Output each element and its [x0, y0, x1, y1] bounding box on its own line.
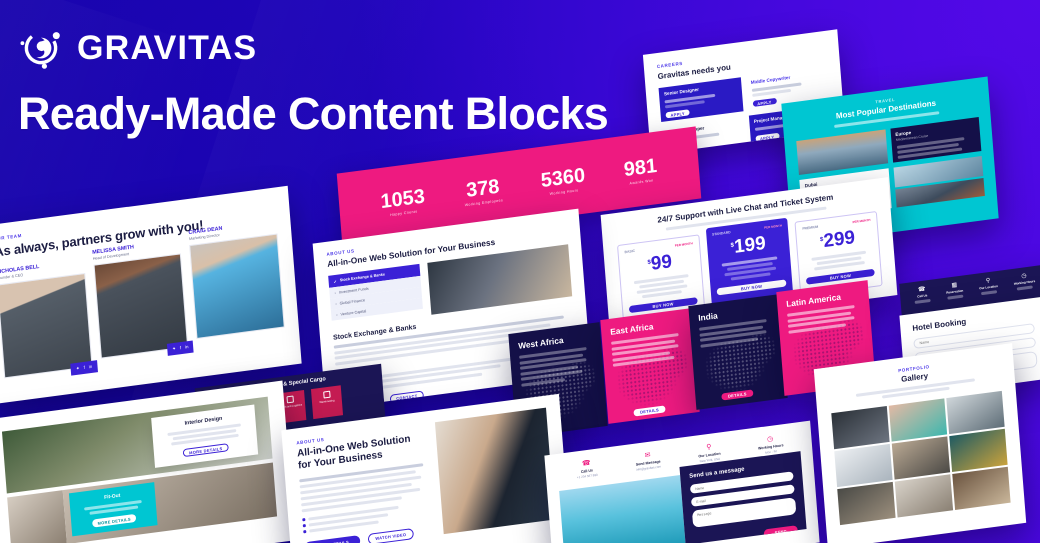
plan-badge: PER MONTH — [675, 241, 693, 247]
page-title: Ready-Made Content Blocks — [18, 88, 608, 140]
about-nav-list[interactable]: ✓ Stock Exchange & Banks › Investment Fu… — [328, 264, 423, 328]
team-panel[interactable]: OUR TEAM As always, partners grow with y… — [0, 186, 302, 404]
gallery-panel[interactable]: PORTFOLIO Gallery — [814, 343, 1026, 543]
twitter-icon[interactable]: ✦ — [172, 346, 176, 352]
contact-form[interactable]: Send us a message SEND — [679, 451, 806, 543]
region-card-east-africa[interactable]: East Africa DETAILS — [600, 308, 699, 424]
team-member-card[interactable]: CRAIG DEAN Marketing Director — [188, 219, 286, 353]
job-apply-button[interactable]: APPLY — [752, 98, 776, 107]
member-social-bar[interactable]: ✦ f in — [167, 340, 194, 355]
stat-item: 981 Awards Won — [623, 154, 658, 185]
destination-button[interactable]: EXPLORE — [898, 160, 918, 162]
interior-image — [7, 490, 67, 543]
topbar-item[interactable]: ▦ Reservation — [945, 281, 963, 300]
gallery-tile[interactable] — [895, 474, 953, 517]
about-hero-image — [427, 244, 572, 314]
gallery-tile[interactable] — [946, 391, 1004, 434]
plan-name: PREMIUM — [802, 225, 818, 231]
stat-item: 1053 Happy Clients — [380, 185, 426, 218]
destination-card[interactable] — [893, 156, 985, 208]
gallery-tile[interactable] — [889, 398, 947, 441]
promo-banner: GRAVITAS Ready-Made Content Blocks CAREE… — [0, 0, 1040, 543]
plan-badge: PER MONTH — [852, 218, 870, 224]
facebook-icon[interactable]: f — [180, 345, 182, 351]
fitout-card-button[interactable]: MORE DETAILS — [92, 514, 136, 528]
plan-badge: PER MONTH — [764, 223, 782, 229]
stat-item: 378 Working Employees — [463, 175, 503, 207]
twitter-icon[interactable]: ✦ — [76, 366, 80, 372]
facebook-icon[interactable]: f — [83, 365, 85, 371]
plan-name: STANDARD — [712, 230, 731, 236]
box-icon — [323, 391, 330, 399]
about-hero-image — [435, 408, 555, 534]
contact-item[interactable]: ☎ Call Us +1 234 567 890 — [557, 455, 617, 482]
gallery-grid[interactable] — [831, 391, 1010, 525]
member-social-bar[interactable]: ✦ f in — [71, 360, 98, 375]
gallery-tile[interactable] — [834, 444, 892, 487]
contact-panel[interactable]: ☎ Call Us +1 234 567 890 ✉ Send Message … — [544, 421, 819, 543]
job-card[interactable]: Senior Designer APPLY — [659, 77, 743, 122]
plan-price: 99 — [650, 251, 673, 275]
bullet-icon — [302, 518, 305, 521]
check-icon: ✓ — [333, 278, 337, 283]
contact-team-image — [559, 475, 685, 543]
more-details-button[interactable]: MORE DETAILS — [304, 535, 360, 543]
cargo-service-card[interactable]: Warehousing — [311, 385, 343, 419]
brand-lockup: GRAVITAS — [18, 24, 257, 72]
gravitas-swirl-icon — [18, 24, 66, 72]
interior-design-panel[interactable]: Interior Design MORE DETAILS Fit-Out MOR… — [0, 381, 295, 543]
bullet-icon — [303, 524, 306, 527]
cargo-service-label: Warehousing — [315, 399, 339, 405]
destination-card[interactable]: Europe Mediterranean Cruise EXPLORE — [890, 117, 981, 163]
team-member-card[interactable]: NICHOLAS BELL Founder & CEO ✦ f in — [0, 258, 92, 378]
destination-image — [796, 129, 887, 175]
linkedin-icon[interactable]: in — [89, 364, 93, 370]
gallery-tile[interactable] — [949, 429, 1007, 472]
region-card-india[interactable]: India DETAILS — [688, 294, 787, 410]
job-title: Senior Designer — [664, 82, 736, 96]
contact-button[interactable]: CONTACT — [390, 390, 424, 403]
topbar-item[interactable]: ◷ Working Hours — [1013, 271, 1036, 291]
job-apply-button[interactable]: APPLY — [665, 109, 689, 118]
topbar-item[interactable]: ☎ Call Us — [914, 285, 931, 304]
linkedin-icon[interactable]: in — [185, 344, 189, 350]
team-member-card[interactable]: MELISSA SMITH Head of Development ✦ f in — [92, 238, 189, 365]
gallery-tile[interactable] — [831, 406, 889, 449]
stat-item: 5360 Working Hours — [540, 164, 586, 197]
contact-send-button[interactable]: SEND — [764, 525, 798, 538]
plan-price: 299 — [823, 227, 856, 252]
interior-card-button[interactable]: MORE DETAILS — [183, 443, 229, 457]
gallery-tile[interactable] — [952, 467, 1010, 510]
member-photo — [191, 235, 284, 338]
plan-price: 199 — [733, 233, 766, 258]
chevron-right-icon: › — [335, 302, 337, 306]
gallery-tile[interactable] — [892, 436, 950, 479]
bullet-icon — [303, 530, 306, 533]
contact-item[interactable]: ✉ Send Message info@gravitas.com — [618, 447, 678, 474]
topbar-item[interactable]: ⚲ Our Location — [979, 276, 999, 295]
job-apply-button[interactable]: APPLY — [755, 133, 779, 142]
brand-name: GRAVITAS — [77, 29, 257, 68]
job-title: Middle Copywriter — [751, 71, 823, 85]
topbar-label: Call Us — [914, 293, 930, 299]
gallery-tile[interactable] — [837, 482, 895, 525]
chevron-right-icon: › — [336, 312, 338, 316]
watch-video-button[interactable]: WATCH VIDEO — [368, 528, 414, 543]
plan-name: BASIC — [624, 249, 635, 254]
chevron-right-icon: › — [334, 291, 336, 295]
plug-icon — [286, 396, 293, 404]
